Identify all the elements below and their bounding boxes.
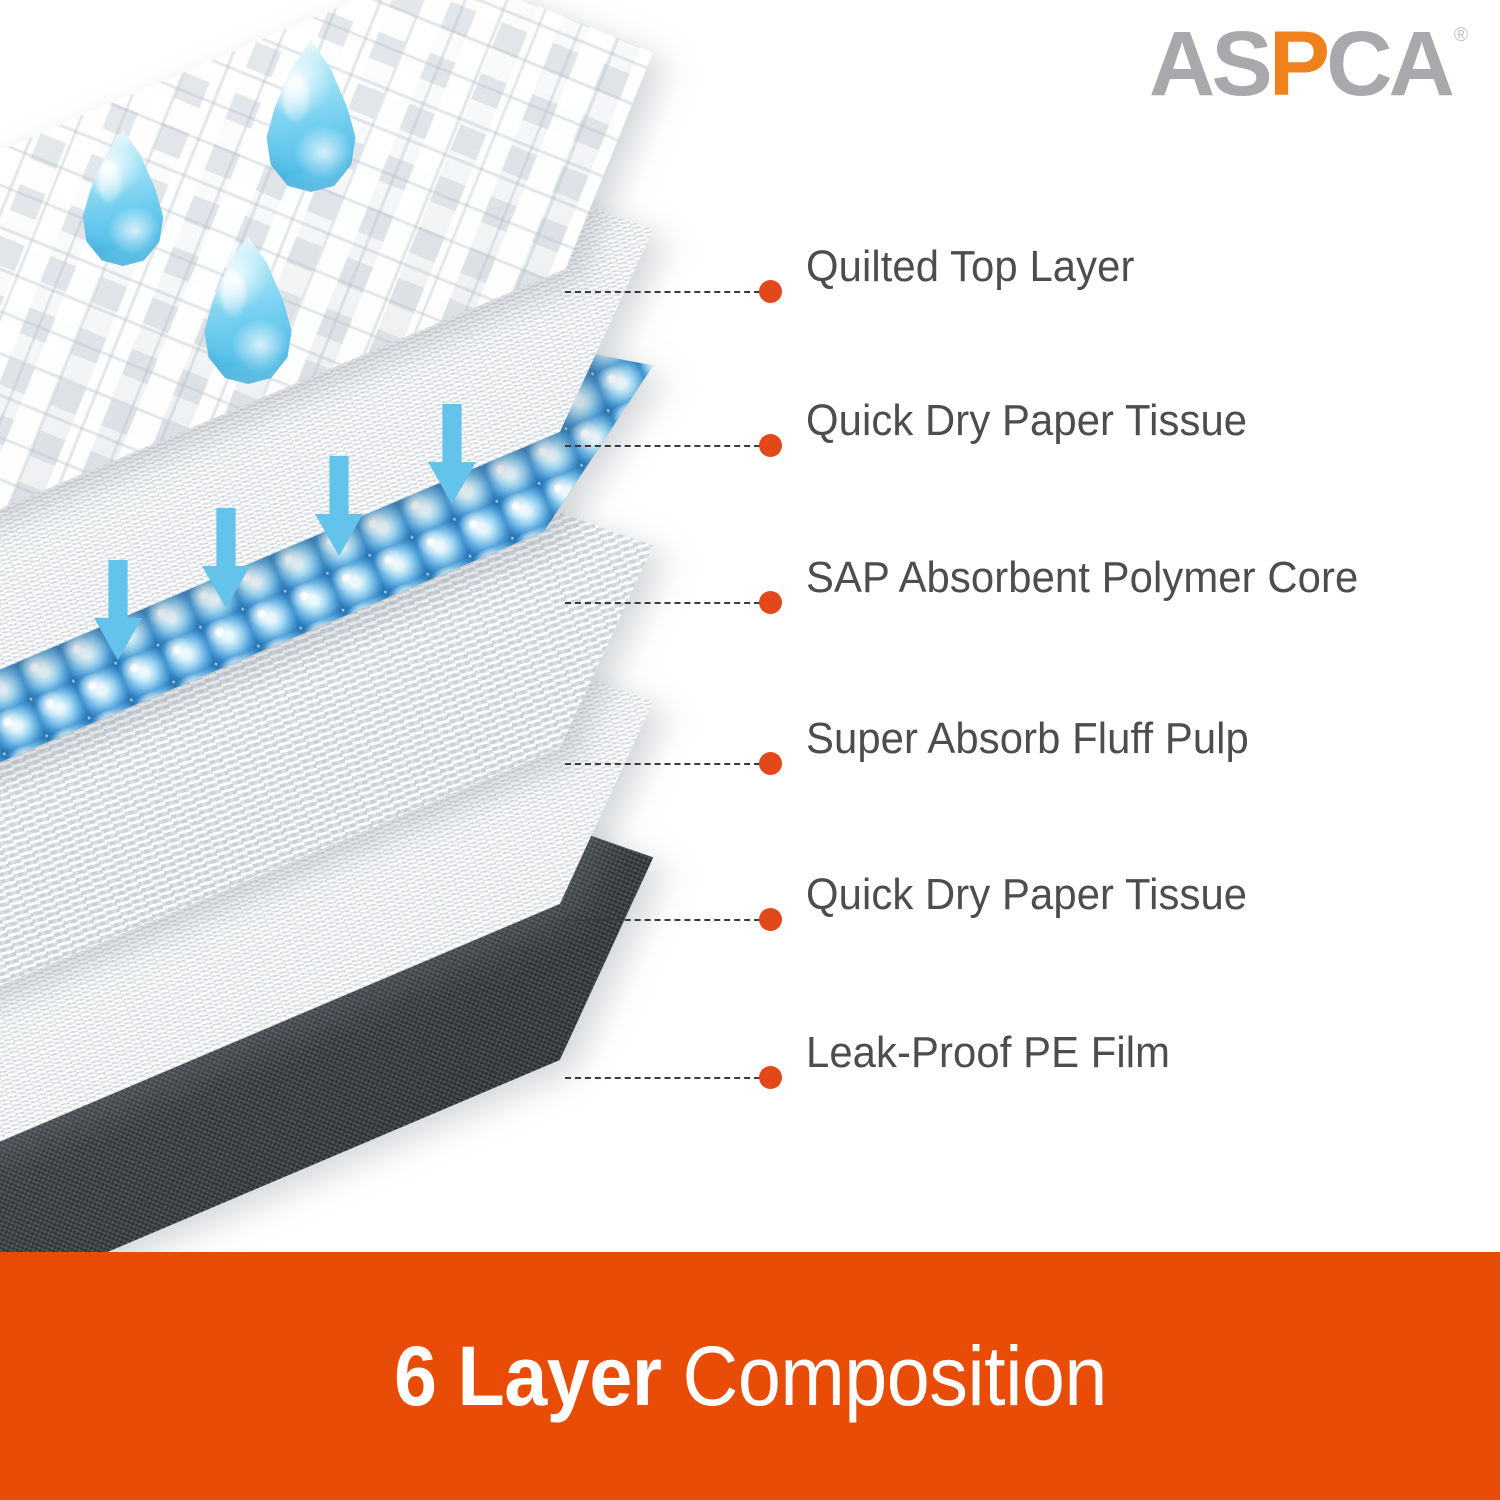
callout-bullet-icon [759,1066,782,1089]
banner-title: 6 Layer Composition [394,1328,1107,1425]
callout-bullet-icon [759,752,782,775]
callout-label: Quick Dry Paper Tissue [806,870,1247,920]
callout-bullet-icon [759,280,782,303]
callout-bullet-icon [759,591,782,614]
banner-title-bold: 6 Layer [394,1329,661,1423]
aspca-wordmark: ASPCA [1149,18,1451,110]
callout-label: Quick Dry Paper Tissue [806,396,1247,446]
leader-line [565,291,770,293]
leader-line [565,763,770,765]
leader-line [565,1077,770,1079]
callout-bullet-icon [759,908,782,931]
banner-title-light [661,1329,682,1423]
callout-label: SAP Absorbent Polymer Core [806,553,1358,603]
aspca-logo: ASPCA ® [1149,18,1468,110]
leader-line [565,919,770,921]
bottom-banner: 6 Layer Composition [0,1252,1500,1500]
logo-letters-as: AS [1149,13,1269,115]
callout-bullet-icon [759,434,782,457]
callout-label: Leak-Proof PE Film [806,1028,1170,1078]
logo-letters-ca: CA [1326,13,1451,115]
banner-title-light-text: Composition [682,1329,1106,1423]
leader-line [565,602,770,604]
callout-label: Super Absorb Fluff Pulp [806,714,1249,764]
leader-line [565,445,770,447]
registered-trademark-icon: ® [1454,26,1468,45]
callout-label: Quilted Top Layer [806,242,1134,292]
infographic-canvas: ASPCA ® Quilted Top Layer Quick Dry Pape… [0,0,1500,1500]
logo-letter-p-accent: P [1269,13,1326,115]
